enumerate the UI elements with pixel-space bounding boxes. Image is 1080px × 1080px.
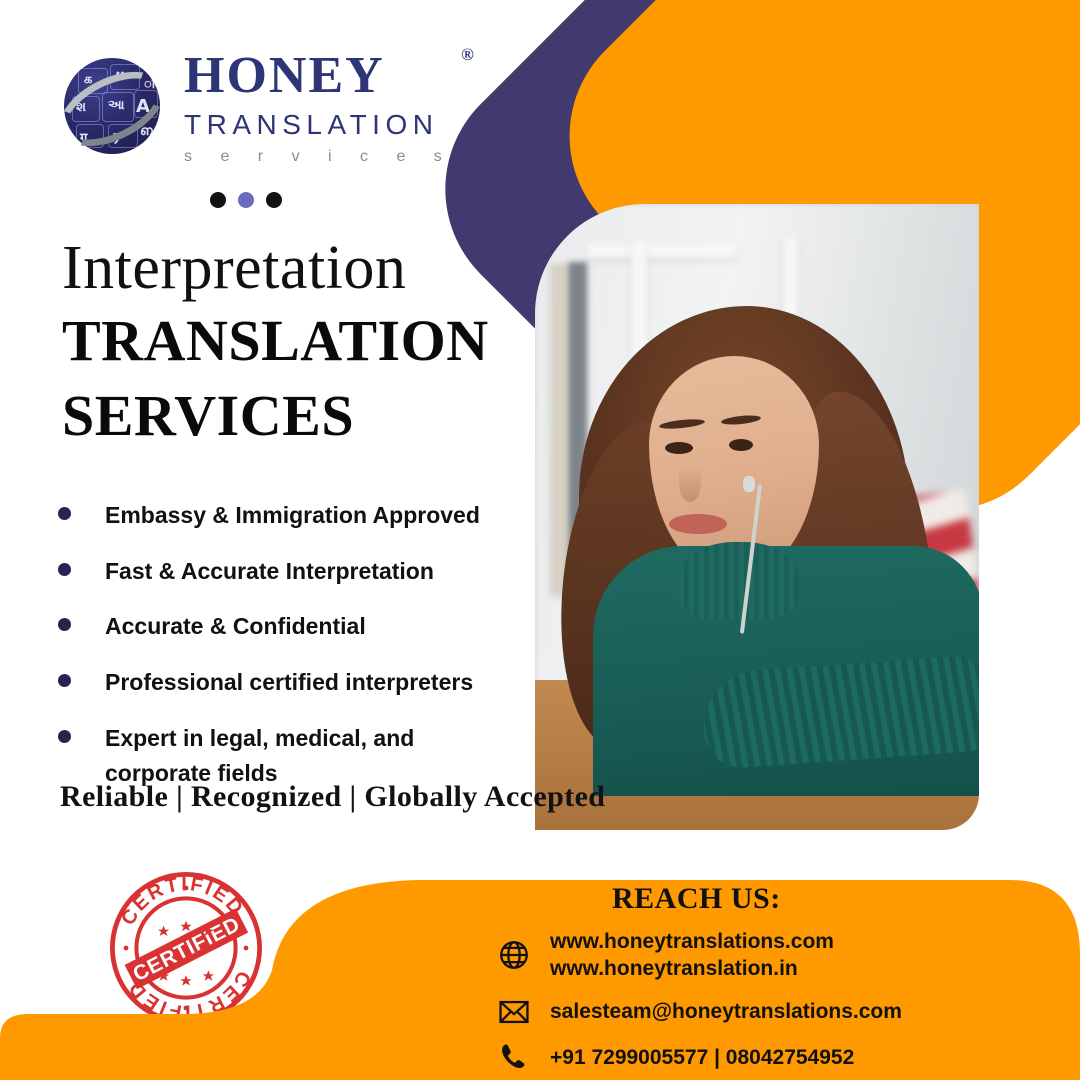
globe-icon bbox=[494, 938, 534, 972]
logo-name: HONEY bbox=[184, 47, 385, 104]
list-item: Fast & Accurate Interpretation bbox=[58, 554, 528, 590]
reach-us-heading: REACH US: bbox=[612, 882, 781, 916]
bullet-icon bbox=[58, 730, 71, 743]
bullet-icon bbox=[58, 618, 71, 631]
phone-icon bbox=[494, 1041, 534, 1075]
contact-row-email[interactable]: salesteam@honeytranslations.com bbox=[494, 995, 1074, 1029]
dot-2 bbox=[238, 192, 254, 208]
envelope-icon bbox=[494, 995, 534, 1029]
bullet-icon bbox=[58, 674, 71, 687]
interpreter-photo bbox=[535, 204, 979, 830]
tagline: Reliable | Recognized | Globally Accepte… bbox=[60, 780, 605, 814]
headline-line-1: TRANSLATION bbox=[62, 307, 489, 375]
registered-mark: ® bbox=[461, 46, 476, 63]
contact-list: www.honeytranslations.com www.honeytrans… bbox=[494, 928, 1074, 1080]
website-line-2[interactable]: www.honeytranslation.in bbox=[550, 955, 834, 982]
contact-row-website[interactable]: www.honeytranslations.com www.honeytrans… bbox=[494, 928, 1074, 983]
website-line-1[interactable]: www.honeytranslations.com bbox=[550, 928, 834, 955]
logo-line-translation: TRANSLATION bbox=[184, 109, 454, 141]
dot-3 bbox=[266, 192, 282, 208]
phone-numbers[interactable]: +91 7299005577 | 08042754952 bbox=[550, 1044, 854, 1071]
email-address[interactable]: salesteam@honeytranslations.com bbox=[550, 998, 902, 1025]
list-item-label: Accurate & Confidential bbox=[105, 609, 366, 645]
list-item: Embassy & Immigration Approved bbox=[58, 498, 528, 534]
feature-list: Embassy & Immigration Approved Fast & Ac… bbox=[58, 498, 528, 812]
logo-line-services: s e r v i c e s bbox=[184, 148, 454, 166]
list-item-label: Fast & Accurate Interpretation bbox=[105, 554, 434, 590]
headline-block: Interpretation TRANSLATION SERVICES bbox=[62, 236, 489, 450]
list-item-label: Embassy & Immigration Approved bbox=[105, 498, 480, 534]
dot-1 bbox=[210, 192, 226, 208]
list-item: Professional certified interpreters bbox=[58, 665, 528, 701]
list-item-label: Professional certified interpreters bbox=[105, 665, 473, 701]
dot-separator bbox=[210, 192, 282, 208]
contact-row-phone[interactable]: +91 7299005577 | 08042754952 bbox=[494, 1041, 1074, 1075]
bullet-icon bbox=[58, 563, 71, 576]
headline-script: Interpretation bbox=[62, 236, 489, 301]
woman-figure bbox=[553, 270, 979, 830]
brand-logo[interactable]: க អ ा શ આ A ग ア ബ HONEY ® TRANSLATION s … bbox=[58, 50, 454, 166]
poster-canvas: க អ ा શ આ A ग ア ബ HONEY ® TRANSLATION s … bbox=[0, 0, 1080, 1080]
globe-icon: க អ ा શ આ A ग ア ബ bbox=[58, 54, 166, 162]
list-item: Accurate & Confidential bbox=[58, 609, 528, 645]
headline-line-2: SERVICES bbox=[62, 382, 489, 450]
bullet-icon bbox=[58, 507, 71, 520]
